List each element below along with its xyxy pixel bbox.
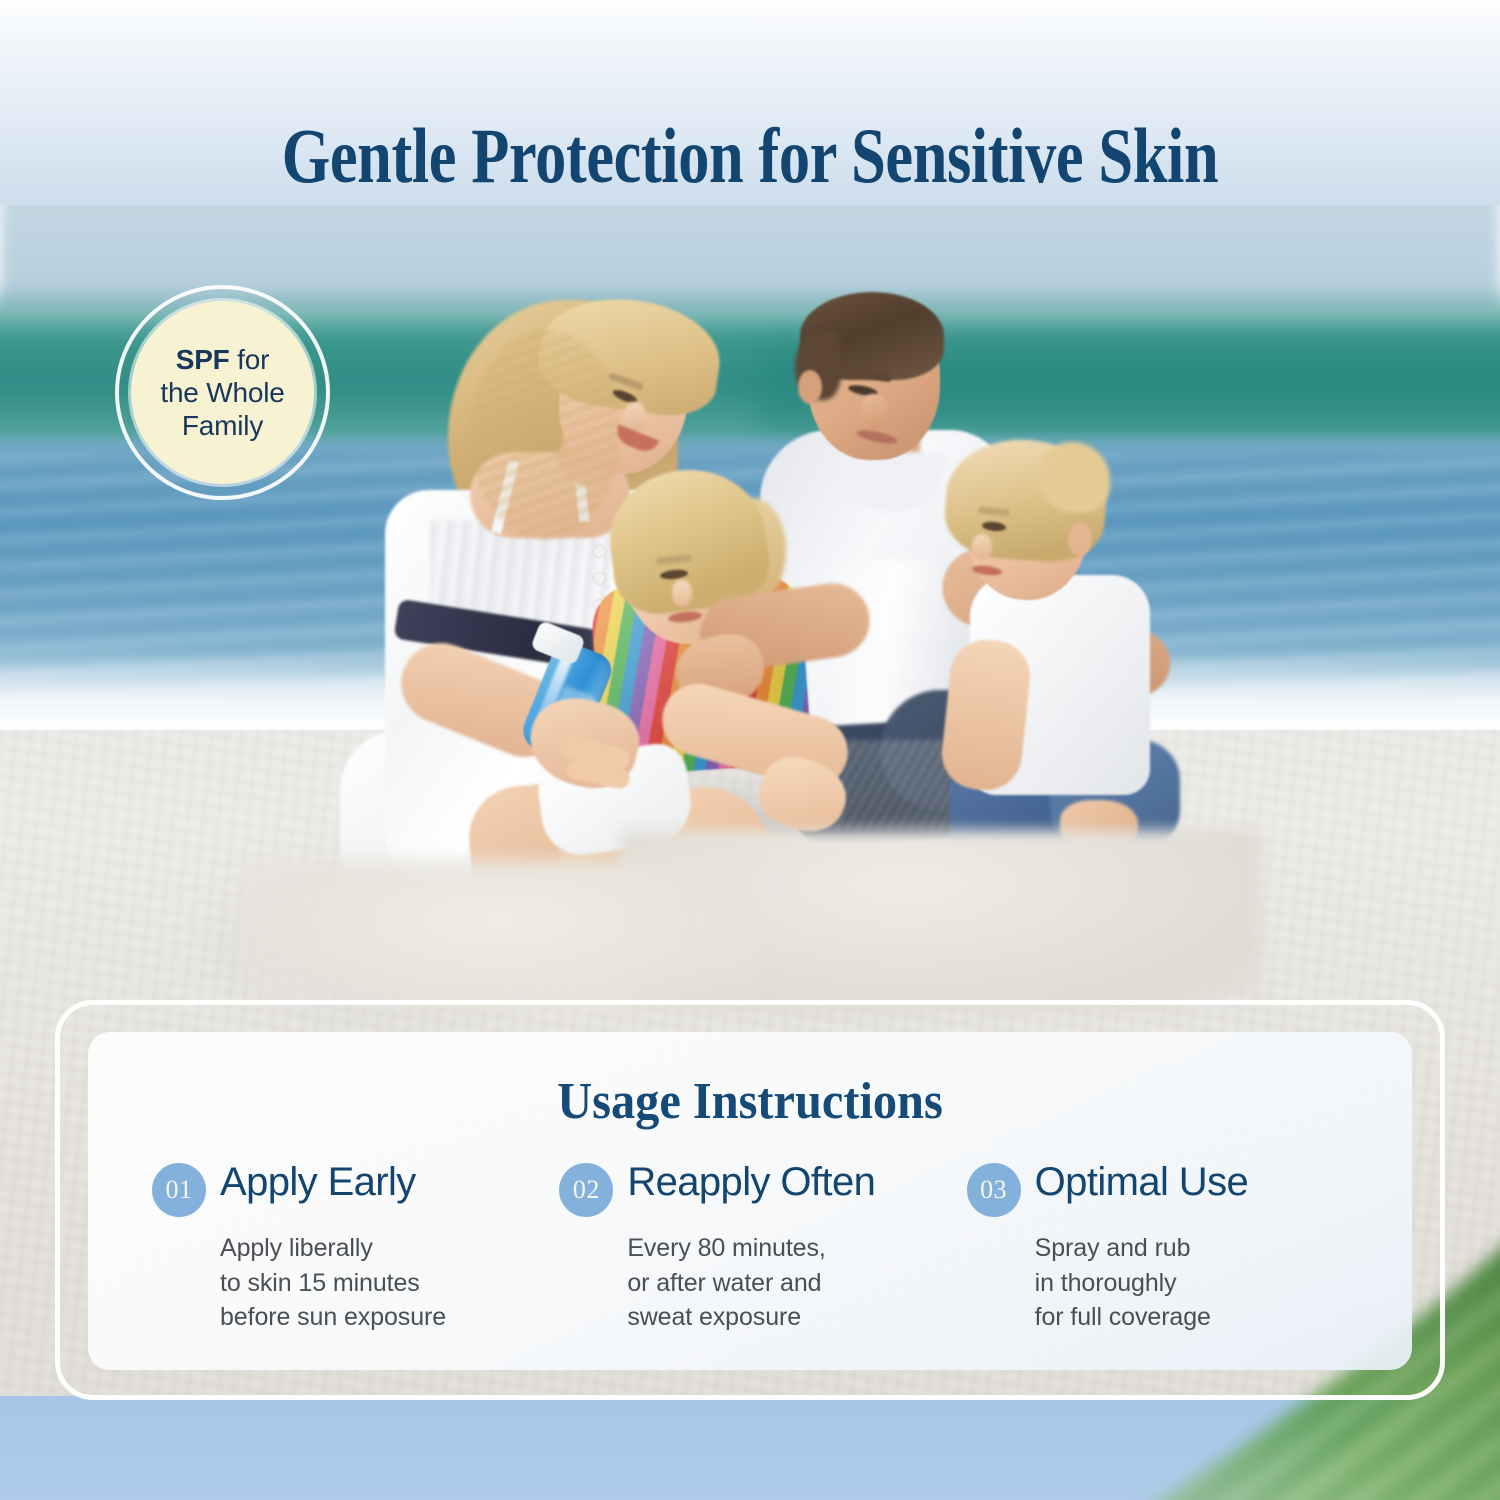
spf-badge-line3: Family [182,410,263,441]
usage-step-2-title: Reapply Often [627,1159,875,1203]
father-ear [798,370,822,404]
usage-step-3-title: Optimal Use [1035,1159,1248,1203]
mother-hair-strands [470,330,620,540]
usage-step-3-number-badge: 03 [967,1163,1021,1217]
usage-instructions-panel: Usage Instructions 01 Apply Early Apply … [88,1032,1412,1370]
usage-step-2-line-2: or after water and [627,1266,952,1301]
spf-badge-line2: the Whole [160,377,284,408]
usage-step-1-line-2: to skin 15 minutes [220,1266,545,1301]
usage-step-1-header: 01 Apply Early [152,1159,545,1217]
usage-step-3: 03 Optimal Use Spray and rub in thorough… [967,1159,1360,1335]
usage-step-2-body: Every 80 minutes, or after water and swe… [627,1231,952,1335]
usage-instructions-title: Usage Instructions [134,1032,1365,1131]
usage-step-3-line-2: in thoroughly [1035,1266,1360,1301]
spf-badge: SPF for the Whole Family [115,285,330,500]
usage-step-2-line-3: sweat exposure [627,1300,952,1335]
usage-step-2: 02 Reapply Often Every 80 minutes, or af… [559,1159,952,1335]
spf-badge-text: SPF for the Whole Family [148,343,296,442]
page-title: Gentle Protection for Sensitive Skin [150,116,1350,196]
girl-nose [672,580,692,606]
spf-badge-disc: SPF for the Whole Family [131,301,314,484]
usage-step-2-number-badge: 02 [559,1163,613,1217]
spf-badge-line1-rest: for [230,344,270,375]
usage-steps-row: 01 Apply Early Apply liberally to skin 1… [88,1131,1412,1335]
usage-step-3-line-3: for full coverage [1035,1300,1360,1335]
usage-step-1: 01 Apply Early Apply liberally to skin 1… [152,1159,545,1335]
usage-step-3-line-1: Spray and rub [1035,1231,1360,1266]
father-nose [862,394,888,430]
sand-mound-left [240,860,760,1010]
usage-step-2-line-1: Every 80 minutes, [627,1231,952,1266]
boy-ear [1068,522,1092,556]
usage-step-3-header: 03 Optimal Use [967,1159,1360,1217]
usage-step-3-body: Spray and rub in thoroughly for full cov… [1035,1231,1360,1335]
spf-badge-acronym: SPF [176,344,230,375]
boy-hair-tuft [1040,442,1110,512]
usage-step-1-line-3: before sun exposure [220,1300,545,1335]
usage-step-1-line-1: Apply liberally [220,1231,545,1266]
infographic-canvas: Gentle Protection for Sensitive Skin SPF… [0,0,1500,1500]
usage-step-1-number-badge: 01 [152,1163,206,1217]
usage-step-1-title: Apply Early [220,1159,416,1203]
usage-step-2-header: 02 Reapply Often [559,1159,952,1217]
boy-nose [972,534,992,560]
usage-step-1-body: Apply liberally to skin 15 minutes befor… [220,1231,545,1335]
